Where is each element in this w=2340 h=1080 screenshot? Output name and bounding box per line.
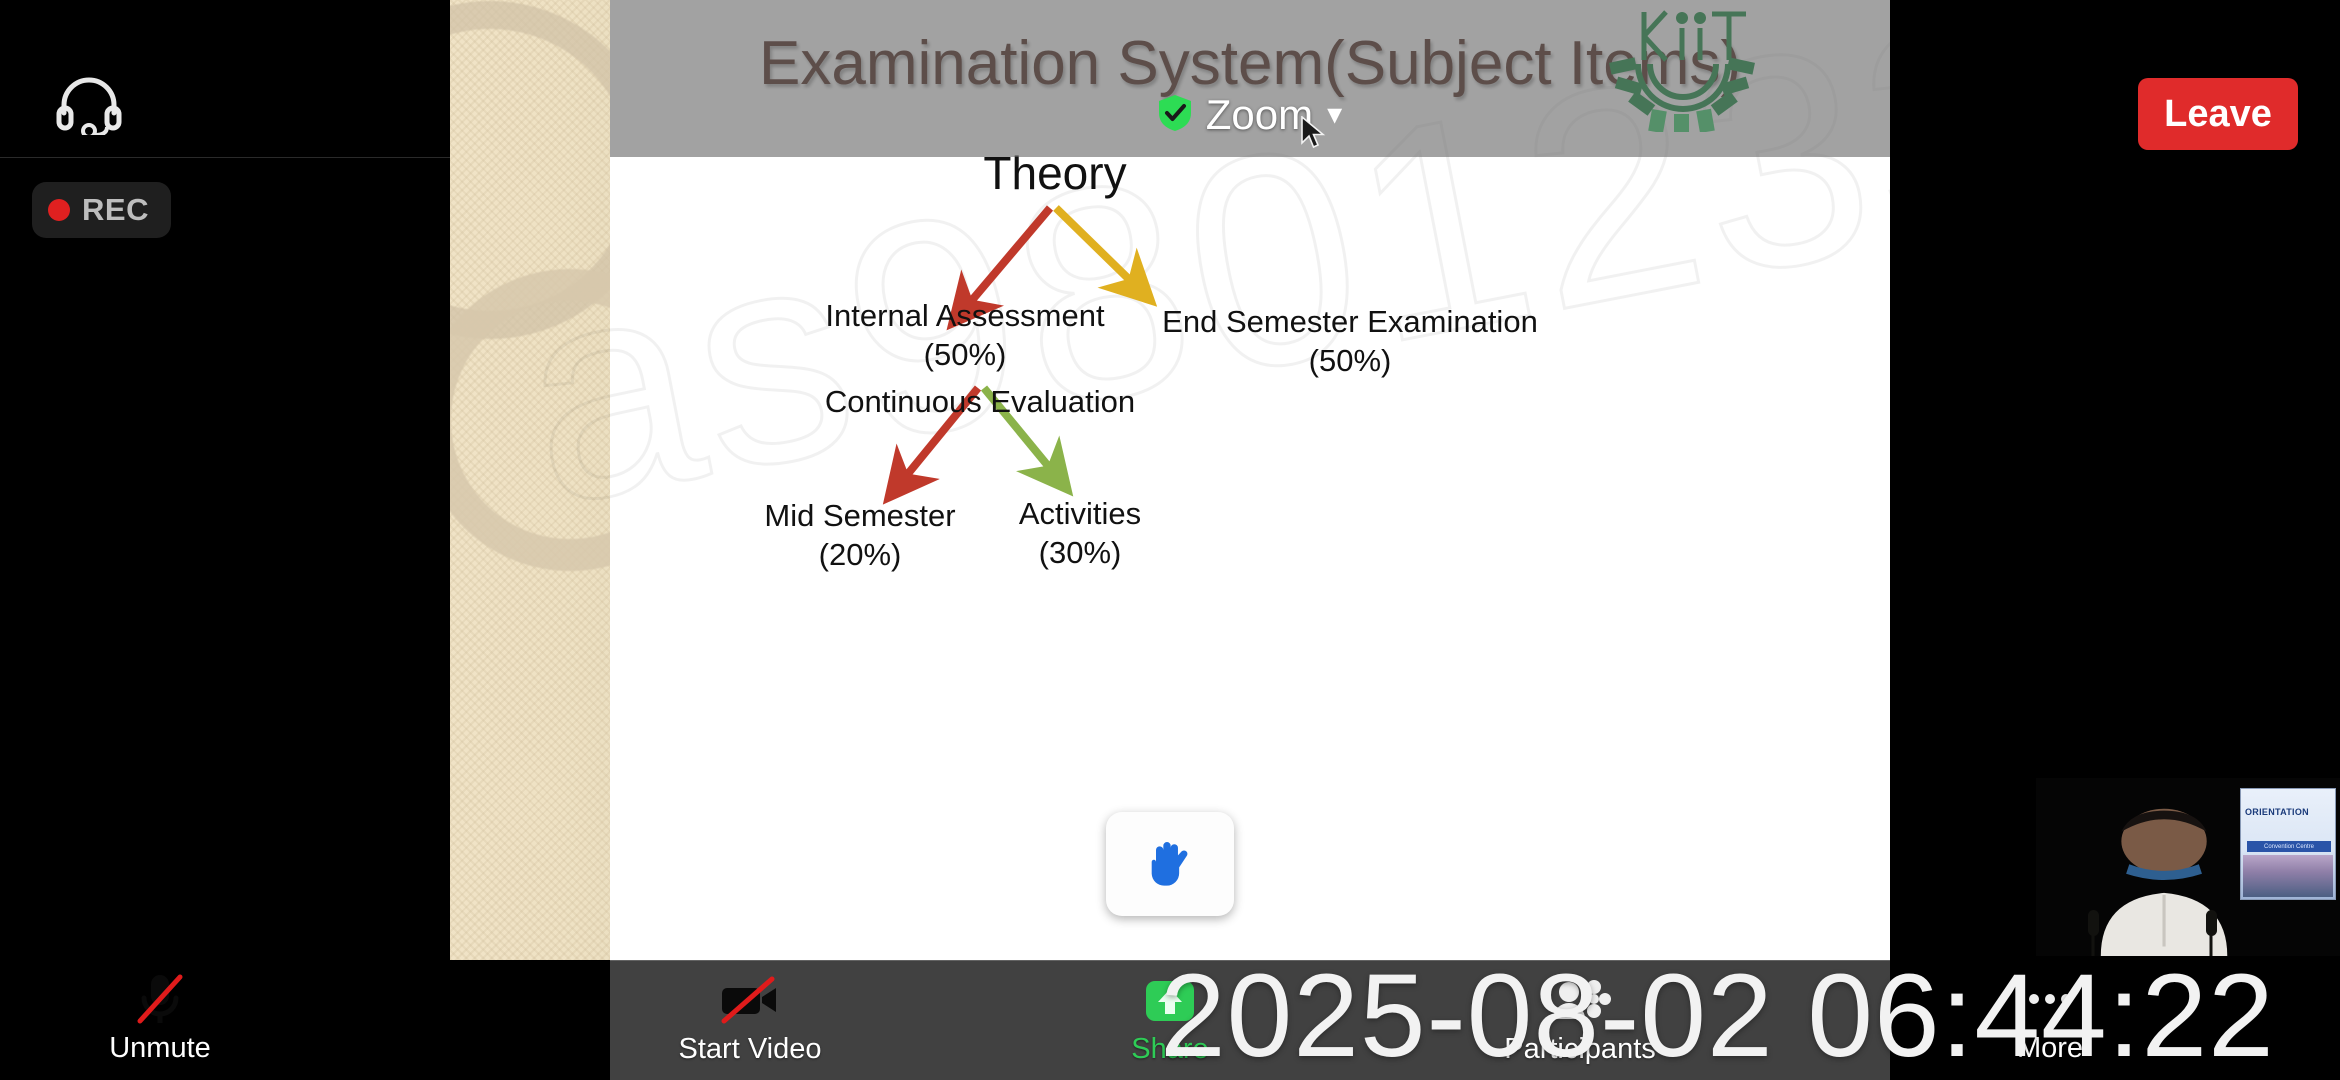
raise-hand-icon xyxy=(1144,836,1196,892)
projector-image xyxy=(2243,855,2333,897)
recording-badge[interactable]: REC xyxy=(32,182,171,238)
toolbar-label-unmute: Unmute xyxy=(109,1032,211,1065)
chevron-down-icon[interactable]: ▾ xyxy=(1327,100,1342,130)
toolbar-item-more[interactable]: More xyxy=(1950,968,2150,1076)
headset-icon[interactable] xyxy=(56,75,122,135)
recording-dot-icon xyxy=(48,199,70,221)
microphone-stand-right xyxy=(2198,910,2224,956)
meeting-title: Zoom xyxy=(1206,91,1313,139)
projector-title: ORIENTATION xyxy=(2245,807,2333,817)
toolbar-label-start-video: Start Video xyxy=(679,1033,822,1066)
toolbar-label-participants: Participants xyxy=(1504,1033,1656,1066)
more-dots-icon xyxy=(2020,968,2080,1030)
leave-button[interactable]: Leave xyxy=(2138,78,2298,150)
camera-muted-icon xyxy=(718,969,782,1031)
microphone-muted-icon xyxy=(130,968,190,1030)
share-screen-icon xyxy=(1142,969,1198,1031)
toolbar-label-more: More xyxy=(2017,1032,2083,1065)
rail-divider xyxy=(0,157,450,158)
zoom-top-bar: Zoom ▾ xyxy=(610,0,1890,157)
projector-screen: ORIENTATION Convention Centre xyxy=(2240,788,2336,900)
zoom-bottom-toolbar: Start Video Share xyxy=(610,960,1890,1080)
recording-label: REC xyxy=(82,192,149,228)
raise-hand-button[interactable] xyxy=(1106,812,1234,916)
projector-subtitle: Convention Centre xyxy=(2247,841,2331,852)
zoom-meeting-window: REC Unmute as9801233442 Examination Syst… xyxy=(0,0,2340,1080)
node-end-semester-examination: End Semester Examination (50%) xyxy=(1100,306,1600,376)
node-continuous-evaluation: Continuous Evaluation xyxy=(740,386,1220,417)
toolbar-item-share[interactable]: Share xyxy=(1070,969,1270,1077)
toolbar-item-unmute[interactable]: Unmute xyxy=(60,968,260,1076)
participants-icon xyxy=(1547,969,1613,1031)
microphone-stand-left xyxy=(2080,910,2106,956)
node-activities: Activities (30%) xyxy=(900,498,1260,568)
toolbar-item-participants[interactable]: Participants xyxy=(1480,969,1680,1077)
shield-check-icon xyxy=(1158,94,1192,137)
toolbar-item-start-video[interactable]: Start Video xyxy=(650,969,850,1077)
slide-decorative-strip xyxy=(450,0,610,960)
participant-video-thumbnail[interactable]: ORIENTATION Convention Centre xyxy=(2036,778,2340,956)
left-rail: REC Unmute xyxy=(0,0,450,1080)
meeting-title-group[interactable]: Zoom ▾ xyxy=(1158,91,1342,139)
toolbar-label-share: Share xyxy=(1131,1033,1208,1066)
